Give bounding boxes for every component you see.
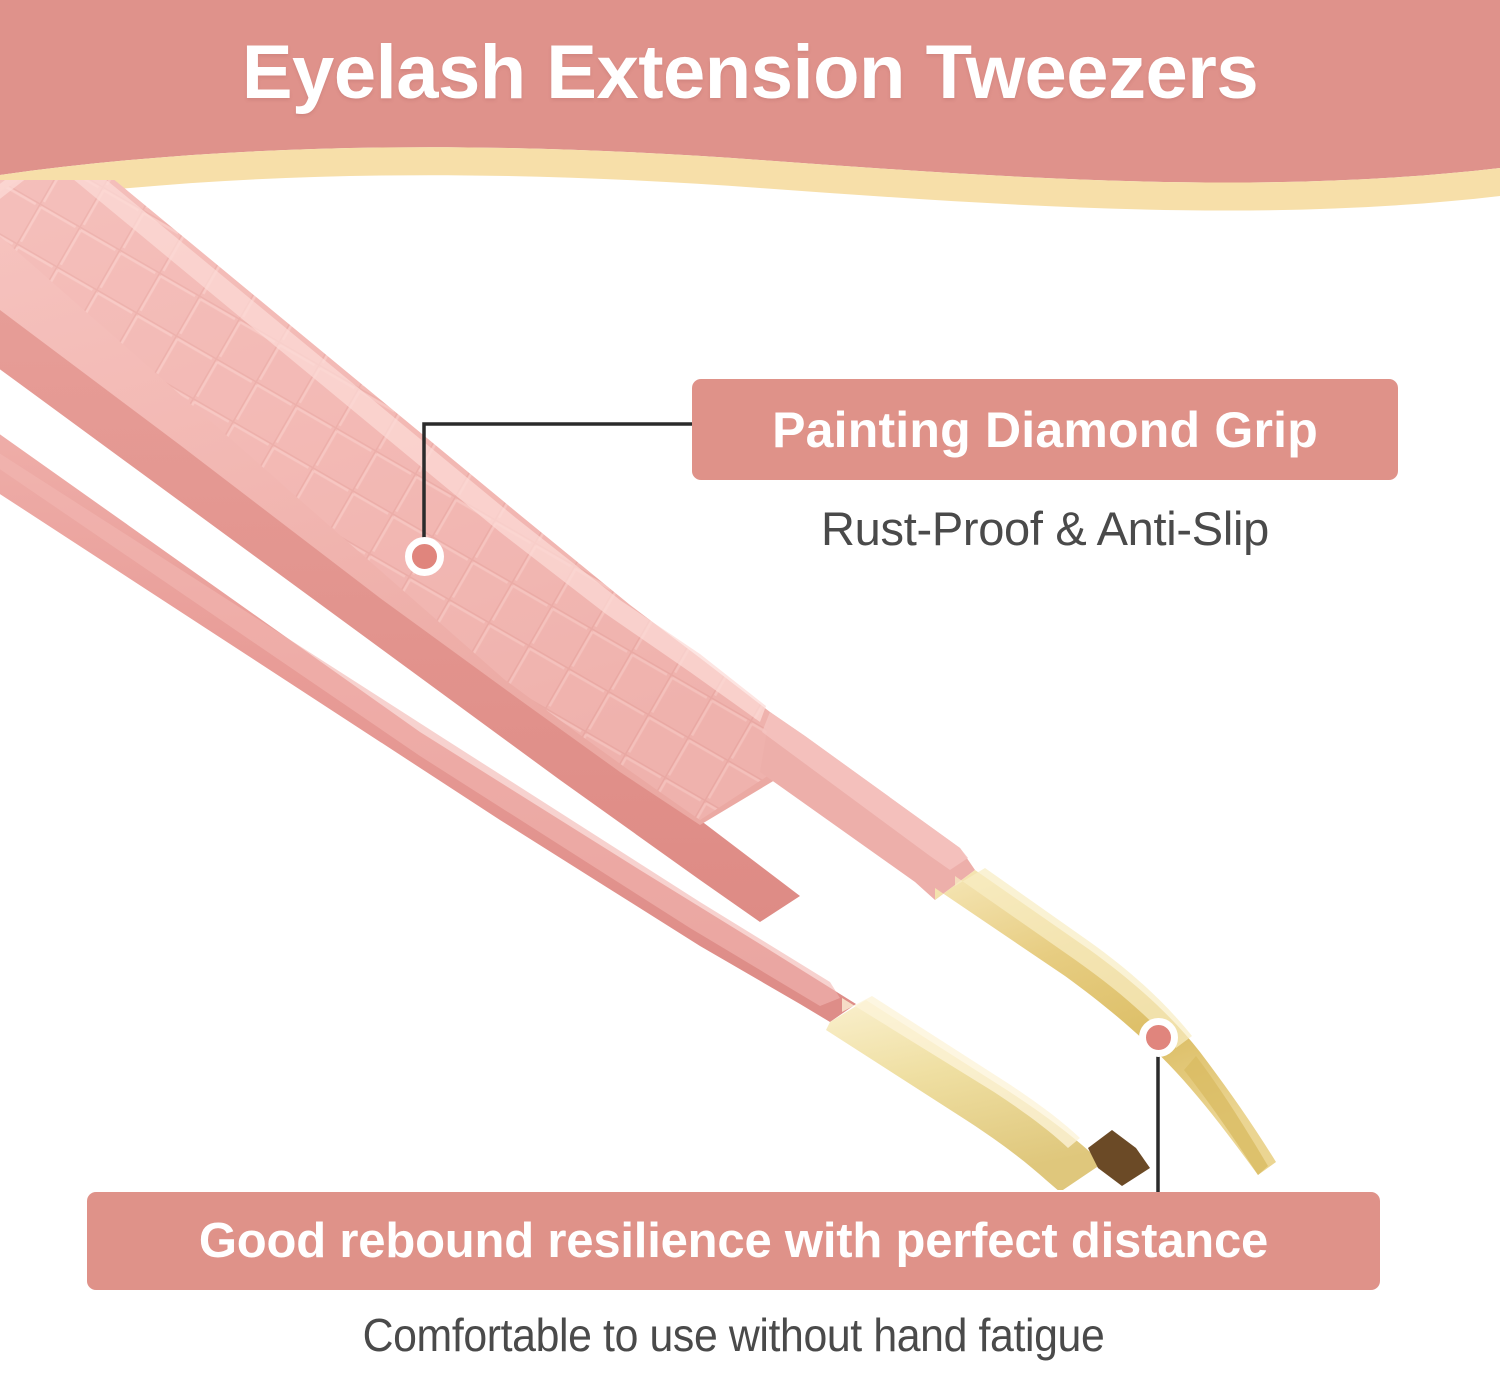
callout-grip-label: Painting Diamond Grip xyxy=(692,379,1398,480)
callout-rebound-label: Good rebound resilience with perfect dis… xyxy=(87,1192,1380,1290)
marker-dot-grip[interactable] xyxy=(405,537,444,576)
lower-arm-dark-collar xyxy=(1088,1130,1150,1186)
product-infographic-page: Eyelash Extension Tweezers xyxy=(0,0,1500,1379)
product-image xyxy=(0,180,1500,1190)
callout-rebound-subtitle: Comfortable to use without hand fatigue xyxy=(132,1306,1334,1364)
marker-dot-tip[interactable] xyxy=(1139,1018,1178,1057)
upper-arm-tip-point xyxy=(1184,1056,1268,1175)
callout-grip-subtitle: Rust-Proof & Anti-Slip xyxy=(692,500,1398,558)
lower-arm-gold-tip xyxy=(826,1000,1100,1190)
tweezer-upper-arm xyxy=(0,180,1276,1175)
tweezers-illustration xyxy=(0,180,1500,1190)
page-title: Eyelash Extension Tweezers xyxy=(0,30,1500,116)
